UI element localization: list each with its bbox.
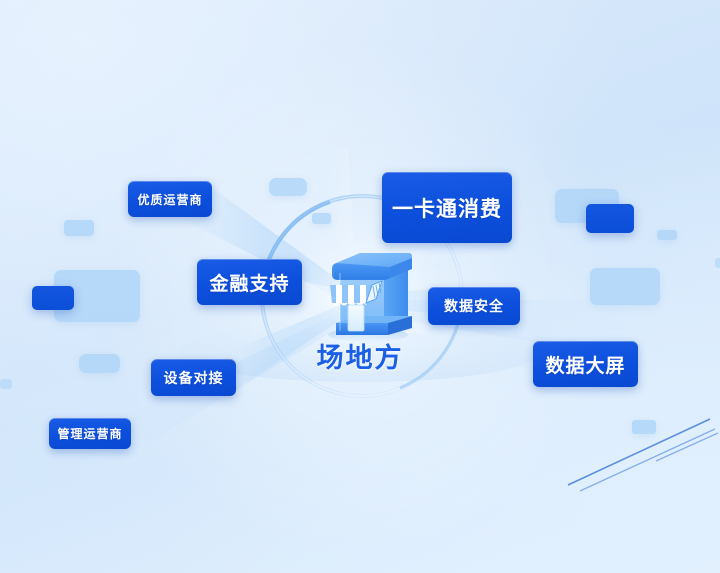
decor-rect-bottom-right [632,420,656,434]
decor-rect-left-solid [32,286,74,310]
decor-diagonal-streaks [560,405,720,495]
tag-label: 优质运营商 [137,191,202,208]
tag-data-security[interactable]: 数据安全 [428,287,520,325]
shop-storefront-icon [312,247,418,342]
infographic-canvas: 场地方 优质运营商 金融支持 设备对接 管理运营商 一卡通消费 数据安全 数据大… [0,0,720,573]
tag-label: 数据安全 [444,296,504,316]
tag-management-operator[interactable]: 管理运营商 [49,418,131,449]
tag-data-dashboard[interactable]: 数据大屏 [533,341,638,387]
tag-premium-operator[interactable]: 优质运营商 [128,181,212,217]
tag-label: 设备对接 [164,368,224,388]
decor-rect-left-tiny [0,379,12,389]
tag-label: 数据大屏 [545,351,625,378]
decor-rect-right-small [657,230,677,240]
decor-rect-top-mid-2 [312,213,331,224]
tag-label: 一卡通消费 [392,193,502,223]
tag-label: 金融支持 [209,269,289,296]
tag-financial-support[interactable]: 金融支持 [197,259,302,305]
decor-rect-top-mid [269,178,307,196]
decor-rect-right-tiny [715,258,720,268]
tag-device-integration[interactable]: 设备对接 [151,359,236,396]
decor-rect-right-solid [586,204,634,233]
decor-rect-left-small-1 [64,220,94,236]
decor-rect-right-mid [590,268,660,305]
tag-allinone-card-payment[interactable]: 一卡通消费 [382,172,512,243]
tag-label: 管理运营商 [57,425,122,442]
